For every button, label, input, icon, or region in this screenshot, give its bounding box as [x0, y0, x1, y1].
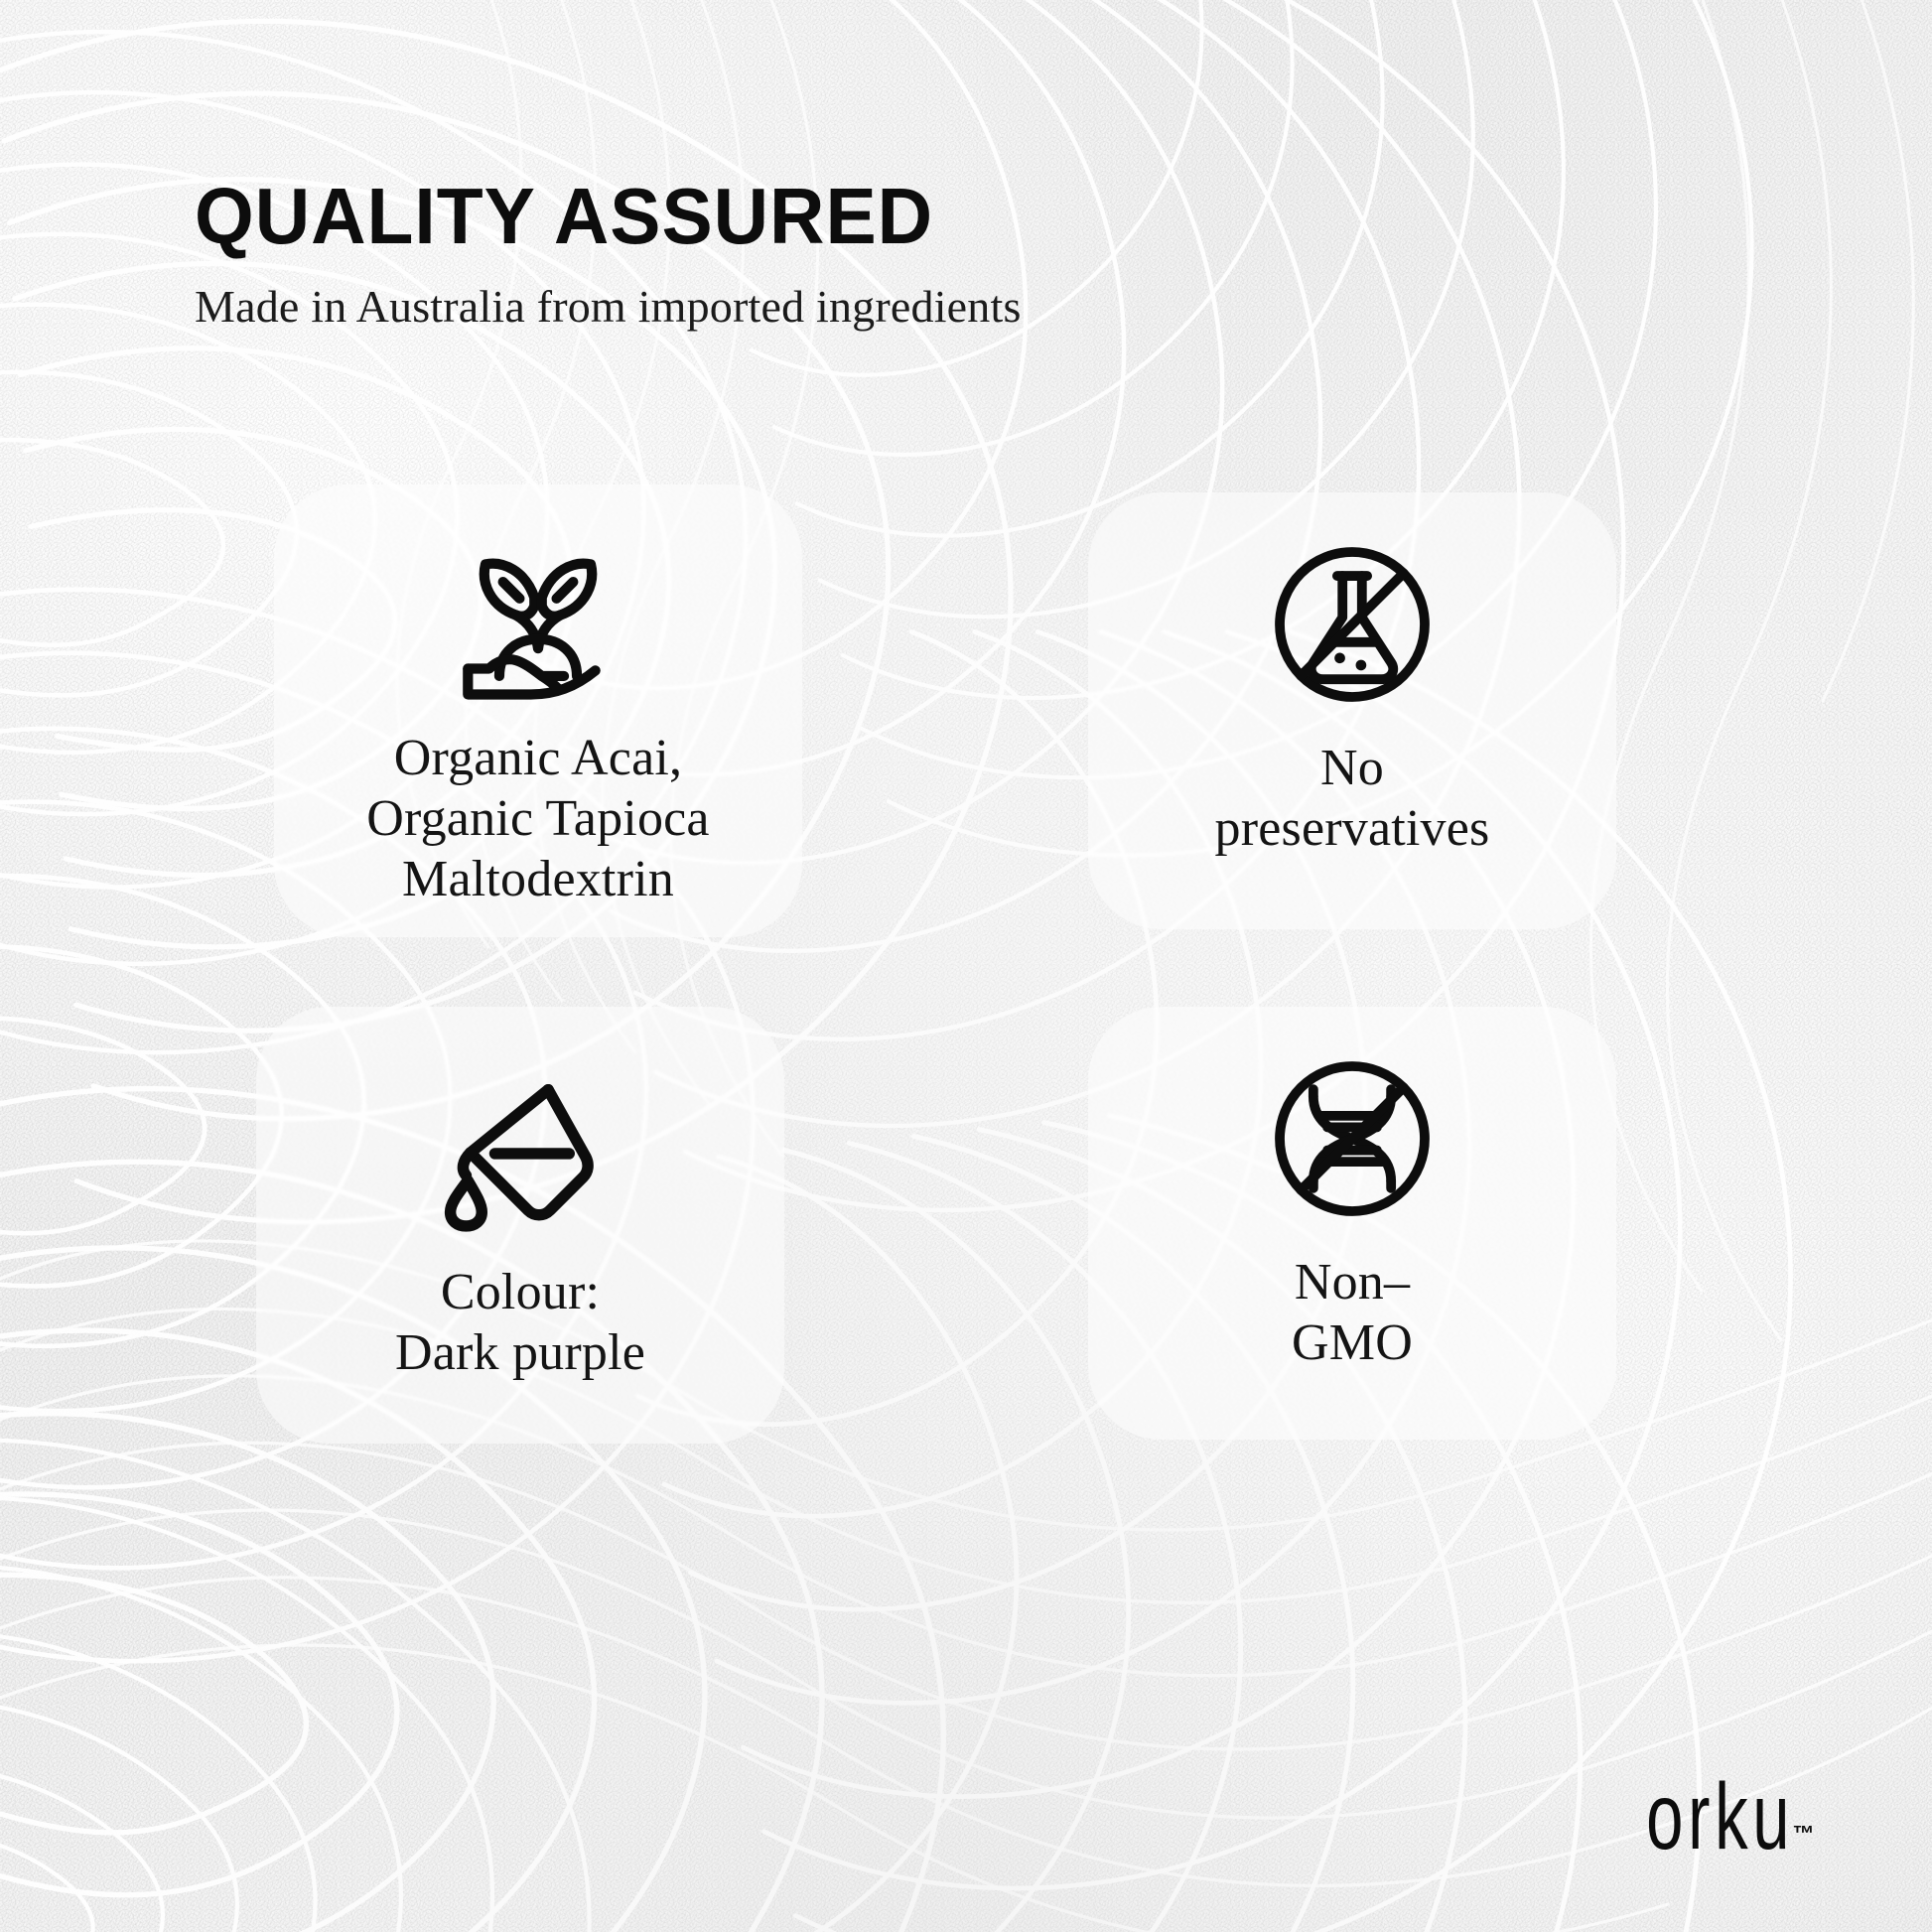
brand-logo-wordmark: orku — [1646, 1774, 1794, 1861]
page-subtitle: Made in Australia from imported ingredie… — [195, 282, 1485, 333]
page-title: QUALITY ASSURED — [195, 177, 1434, 256]
paint-bucket-icon — [433, 1058, 608, 1233]
no-dna-icon — [1264, 1050, 1441, 1227]
feature-card-colour: Colour: Dark purple — [256, 1007, 784, 1444]
trademark-icon: ™ — [1793, 1821, 1816, 1847]
feature-card-non-gmo: Non– GMO — [1088, 1007, 1616, 1440]
feature-card-no-preservatives: No preservatives — [1088, 492, 1616, 929]
sprout-in-hand-icon — [444, 530, 632, 715]
feature-card-label: Non– GMO — [1278, 1253, 1427, 1374]
no-flask-icon — [1264, 536, 1441, 713]
feature-card-grid: Organic Acai, Organic Tapioca Maltodextr… — [256, 484, 1678, 1602]
feature-card-label: Colour: Dark purple — [381, 1263, 659, 1384]
header-block: QUALITY ASSURED Made in Australia from i… — [195, 177, 1485, 333]
feature-card-ingredients: Organic Acai, Organic Tapioca Maltodextr… — [274, 484, 802, 937]
brand-logo: orku ™ — [1604, 1782, 1815, 1861]
feature-card-label: Organic Acai, Organic Tapioca Maltodextr… — [352, 729, 723, 909]
feature-card-label: No preservatives — [1201, 739, 1504, 860]
poster-canvas: QUALITY ASSURED Made in Australia from i… — [0, 0, 1932, 1932]
